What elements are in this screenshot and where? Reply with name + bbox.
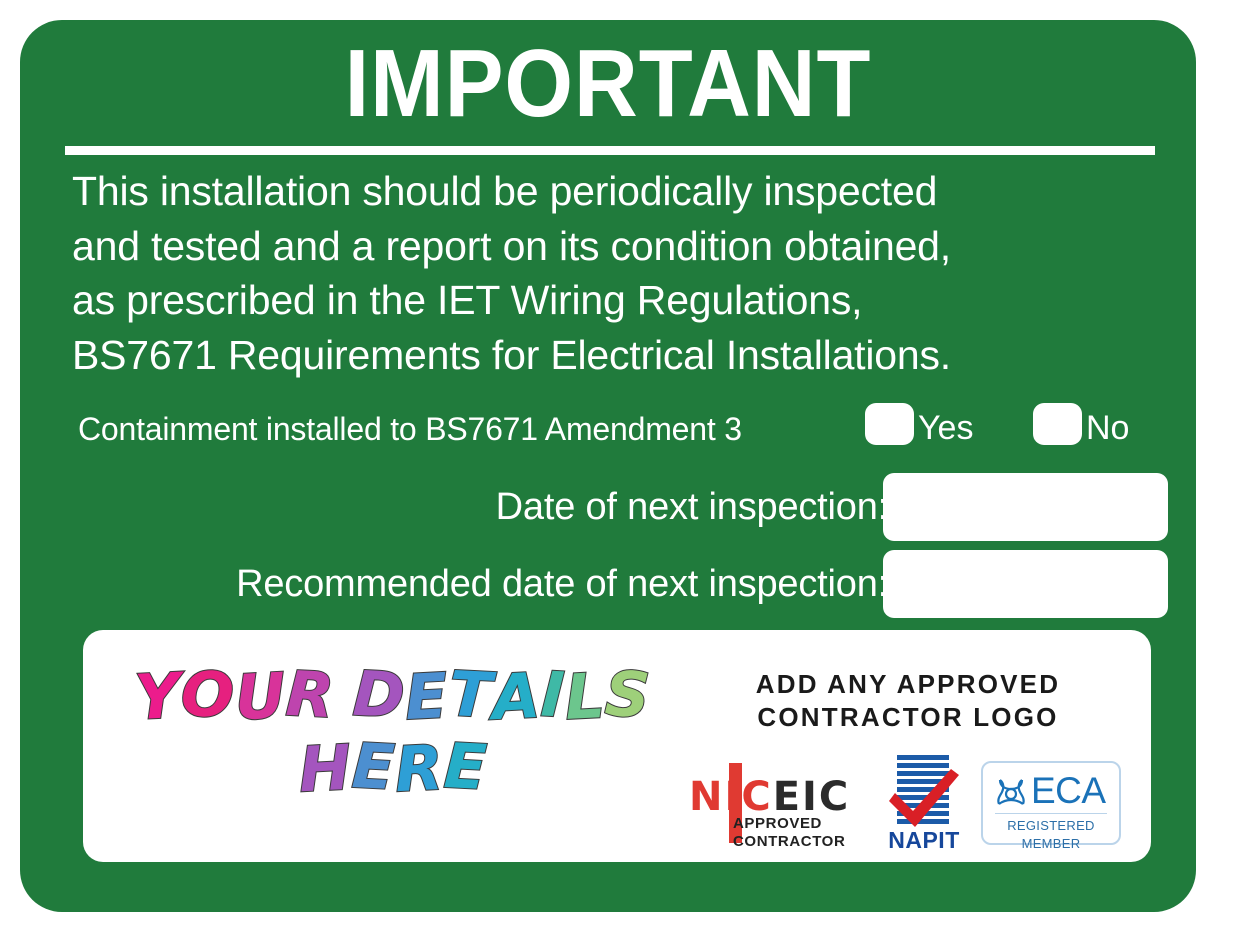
containment-yes-label: Yes	[918, 408, 973, 448]
wordmark-letter: R	[393, 731, 446, 807]
eca-divider	[995, 813, 1107, 814]
napit-wordmark: NAPIT	[883, 827, 965, 853]
containment-no-label: No	[1086, 408, 1129, 448]
niceic-subtitle: APPROVED CONTRACTOR	[733, 815, 845, 851]
wordmark-letter: D	[351, 657, 407, 734]
important-notice-card: IMPORTANT This installation should be pe…	[20, 20, 1196, 912]
logo-caption-line-2: CONTRACTOR LOGO	[683, 701, 1133, 734]
notice-body-text: This installation should be periodically…	[72, 164, 1182, 382]
date-of-next-inspection-row: Date of next inspection:	[78, 473, 1188, 543]
eca-top-row: ECA	[983, 770, 1119, 814]
wordmark-line-1: YOURDETAILS	[113, 660, 673, 734]
wordmark-letter: A	[490, 659, 543, 735]
napit-logo: NAPIT	[883, 755, 965, 855]
recommended-date-label: Recommended date of next inspection:	[236, 560, 888, 608]
wordmark-letter: E	[442, 729, 489, 805]
page-title: IMPORTANT	[67, 32, 1149, 136]
recommended-date-input[interactable]	[883, 550, 1168, 618]
date-of-next-inspection-label: Date of next inspection:	[496, 483, 888, 531]
wordmark-letter: R	[284, 657, 337, 733]
eca-symbol-icon	[993, 774, 1029, 810]
wordmark-letter: Y	[133, 659, 183, 735]
wordmark-letter: L	[563, 659, 607, 735]
wordmark-letter: T	[447, 657, 494, 733]
containment-row: Containment installed to BS7671 Amendmen…	[78, 403, 1188, 455]
niceic-subtitle-line-1: APPROVED	[733, 815, 845, 833]
logo-panel: YOURDETAILS HERE ADD ANY APPROVED CONTRA…	[83, 630, 1151, 862]
containment-label: Containment installed to BS7671 Amendmen…	[78, 409, 742, 449]
containment-yes-checkbox[interactable]	[865, 403, 914, 445]
wordmark-letter: U	[233, 659, 288, 736]
niceic-wordmark: NICEIC	[689, 777, 850, 817]
wordmark-letter: O	[179, 657, 237, 734]
your-details-here-wordmark: YOURDETAILS HERE	[113, 644, 673, 844]
niceic-eic-text: EIC	[773, 774, 851, 820]
logo-caption-line-1: ADD ANY APPROVED	[683, 668, 1133, 701]
approved-contractor-logos: NICEIC APPROVED CONTRACTOR NAPIT	[683, 755, 1133, 855]
niceic-logo: NICEIC APPROVED CONTRACTOR	[683, 763, 868, 853]
date-of-next-inspection-input[interactable]	[883, 473, 1168, 541]
eca-subtitle: REGISTERED MEMBER	[983, 817, 1119, 853]
wordmark-letter: E	[350, 729, 397, 805]
wordmark-letter: S	[604, 657, 653, 733]
wordmark-letter: E	[403, 659, 450, 735]
niceic-subtitle-line-2: CONTRACTOR	[733, 833, 845, 851]
eca-wordmark: ECA	[1031, 769, 1106, 813]
containment-no-checkbox[interactable]	[1033, 403, 1082, 445]
recommended-date-of-next-inspection-row: Recommended date of next inspection:	[78, 550, 1188, 620]
title-divider	[65, 146, 1155, 155]
wordmark-line-2: HERE	[113, 732, 673, 806]
logo-caption: ADD ANY APPROVED CONTRACTOR LOGO	[683, 668, 1133, 734]
napit-checkmark-icon	[885, 767, 963, 829]
eca-logo: ECA REGISTERED MEMBER	[981, 761, 1121, 845]
wordmark-letter: H	[297, 731, 354, 808]
